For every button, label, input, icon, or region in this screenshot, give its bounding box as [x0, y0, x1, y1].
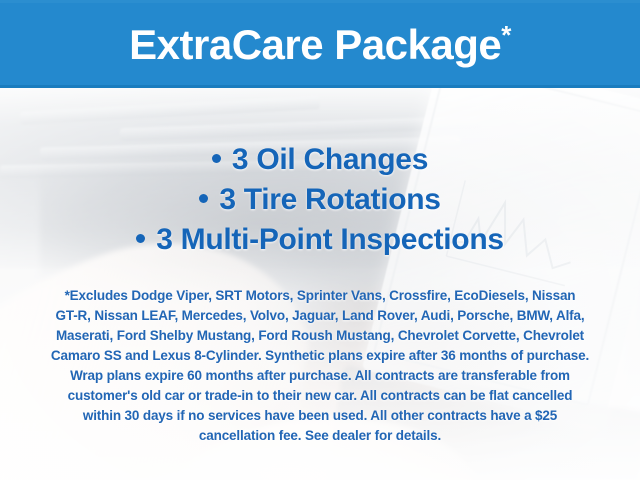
page-title: ExtraCare Package* [129, 22, 511, 66]
fine-print-line: *Excludes Dodge Viper, SRT Motors, Sprin… [24, 286, 616, 306]
disclaimer-fine-print: *Excludes Dodge Viper, SRT Motors, Sprin… [24, 286, 616, 446]
disclaimer-asterisk: * [501, 20, 511, 50]
fine-print-line: GT-R, Nissan LEAF, Mercedes, Volvo, Jagu… [24, 306, 616, 326]
page-title-text: ExtraCare Package [129, 21, 501, 68]
list-item: 3 Tire Rotations [0, 180, 640, 220]
list-item: 3 Multi-Point Inspections [0, 220, 640, 260]
bullet-dot-icon [212, 154, 221, 163]
list-item: 3 Oil Changes [0, 140, 640, 180]
list-item-label: 3 Oil Changes [232, 143, 428, 176]
fine-print-line: Wrap plans expire 60 months after purcha… [24, 366, 616, 386]
benefits-list: 3 Oil Changes 3 Tire Rotations 3 Multi-P… [0, 140, 640, 260]
bullet-dot-icon [136, 234, 145, 243]
fine-print-line: Maserati, Ford Shelby Mustang, Ford Rous… [24, 326, 616, 346]
fine-print-line: customer's old car or trade-in to their … [24, 386, 616, 406]
list-item-label: 3 Multi-Point Inspections [156, 223, 504, 256]
fine-print-line: cancellation fee. See dealer for details… [24, 426, 616, 446]
bullet-dot-icon [199, 194, 208, 203]
header-banner: ExtraCare Package* [0, 0, 640, 88]
fine-print-line: within 30 days if no services have been … [24, 406, 616, 426]
fine-print-line: Camaro SS and Lexus 8-Cylinder. Syntheti… [24, 346, 616, 366]
list-item-label: 3 Tire Rotations [219, 183, 440, 216]
extracare-package-ad: ExtraCare Package* 3 Oil Changes 3 Tire … [0, 0, 640, 480]
